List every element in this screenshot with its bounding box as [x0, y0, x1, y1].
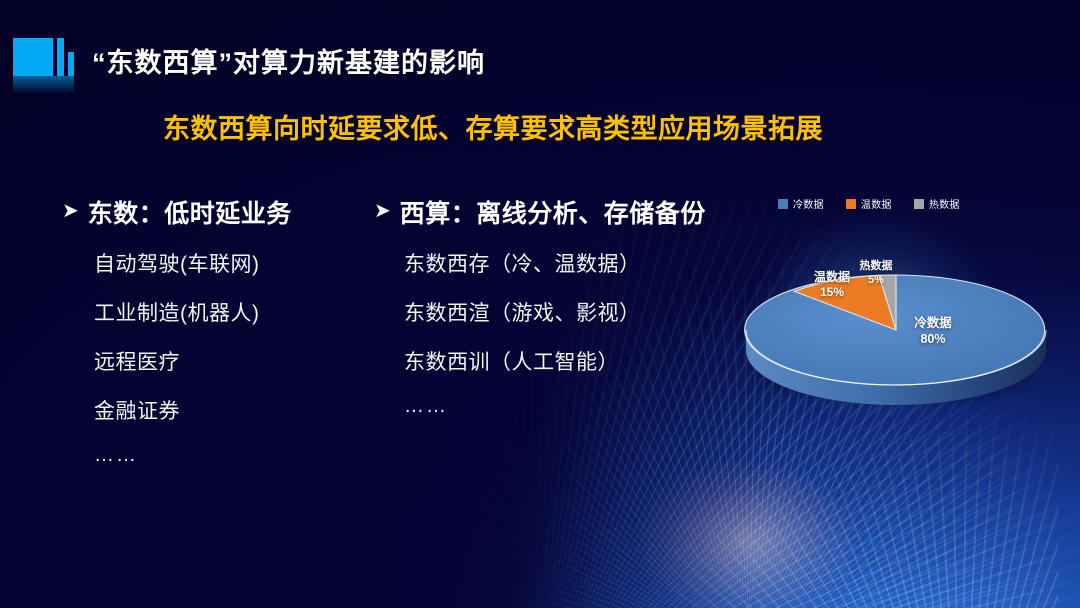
pie-label-warm-name: 温数据 [814, 270, 850, 284]
legend-item-warm: 温数据 [846, 196, 892, 211]
data-temperature-pie-chart: 冷数据 温数据 热数据 [760, 196, 1072, 411]
pie-label-cold: 冷数据 80% [888, 316, 978, 347]
content-column-dongshu: ➤ 东数：低时延业务 自动驾驶(车联网) 工业制造(机器人) 远程医疗 金融证券… [62, 194, 292, 486]
content-column-xisuan: ➤ 西算：离线分析、存储备份 东数西存（冷、温数据） 东数西渲（游戏、影视） 东… [374, 194, 706, 437]
list-item: 自动驾驶(车联网) [94, 248, 292, 278]
page-subtitle: 东数西算向时延要求低、存算要求高类型应用场景拓展 [163, 107, 823, 146]
pie-label-cold-name: 冷数据 [914, 316, 952, 330]
pie-label-hot: 热数据 5% [848, 260, 904, 288]
column-items-dongshu: 自动驾驶(车联网) 工业制造(机器人) 远程医疗 金融证券 …… [62, 248, 292, 467]
pie-label-cold-value: 80% [888, 332, 978, 348]
list-item: 东数西存（冷、温数据） [404, 248, 706, 278]
list-item: 工业制造(机器人) [94, 297, 292, 327]
legend-label-cold: 冷数据 [793, 196, 824, 211]
list-item-ellipsis: …… [94, 444, 292, 467]
column-heading-xisuan: ➤ 西算：离线分析、存储备份 [374, 194, 706, 230]
legend-swatch-cold [778, 199, 788, 209]
pie-label-hot-value: 5% [848, 274, 904, 288]
arrow-bullet-icon: ➤ [62, 201, 79, 221]
slide-canvas: “东数西算”对算力新基建的影响 东数西算向时延要求低、存算要求高类型应用场景拓展… [0, 0, 1080, 608]
list-item: 东数西渲（游戏、影视） [404, 297, 706, 327]
legend-label-hot: 热数据 [929, 196, 960, 211]
list-item: 东数西训（人工智能） [404, 346, 706, 376]
column-heading-dongshu: ➤ 东数：低时延业务 [62, 194, 292, 230]
page-title: “东数西算”对算力新基建的影响 [92, 41, 485, 80]
column-items-xisuan: 东数西存（冷、温数据） 东数西渲（游戏、影视） 东数西训（人工智能） …… [374, 248, 706, 418]
list-item-ellipsis: …… [404, 395, 706, 418]
legend-label-warm: 温数据 [861, 196, 892, 211]
chart-legend: 冷数据 温数据 热数据 [778, 196, 960, 211]
pie-graphic: 冷数据 80% 温数据 15% 热数据 5% [730, 238, 1060, 413]
column-heading-label: 西算：离线分析、存储备份 [400, 194, 706, 230]
pie-label-hot-name: 热数据 [860, 260, 893, 272]
column-heading-label: 东数：低时延业务 [88, 194, 292, 230]
list-item: 金融证券 [94, 395, 292, 425]
bar-blocks-logo-icon [13, 38, 77, 94]
legend-swatch-hot [914, 199, 924, 209]
legend-swatch-warm [846, 199, 856, 209]
legend-item-hot: 热数据 [914, 196, 960, 211]
arrow-bullet-icon: ➤ [374, 201, 391, 221]
list-item: 远程医疗 [94, 346, 292, 376]
legend-item-cold: 冷数据 [778, 196, 824, 211]
